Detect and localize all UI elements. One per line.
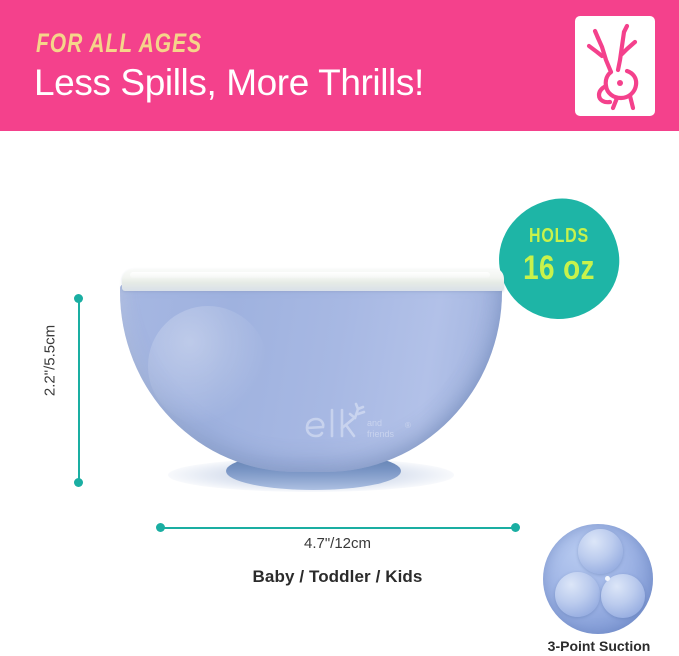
height-dimension-dot-top	[74, 294, 83, 303]
product-infographic: For All Ages Less Spills, More Thrills!	[0, 0, 679, 656]
eyebrow-text: For All Ages	[36, 28, 202, 59]
suction-caption: 3-Point Suction	[527, 638, 671, 654]
audience-caption: Baby / Toddler / Kids	[140, 567, 535, 587]
suction-detail-inset: 3-Point Suction	[533, 524, 665, 656]
width-dimension-dot-left	[156, 523, 165, 532]
header-banner: For All Ages Less Spills, More Thrills!	[0, 0, 679, 131]
width-dimension-dot-right	[511, 523, 520, 532]
suction-dome-top	[578, 529, 623, 574]
capacity-badge: Holds 16 oz	[499, 199, 619, 319]
suction-dome-left	[555, 572, 600, 617]
capacity-badge-value: 16 oz	[510, 249, 608, 288]
svg-text:®: ®	[405, 421, 411, 430]
suction-base-circle	[543, 524, 653, 634]
brand-logo	[575, 16, 655, 116]
height-dimension-line	[78, 300, 80, 482]
svg-text:friends: friends	[367, 429, 395, 439]
registered-trademark-mark: ®	[645, 104, 653, 115]
bowl-product-image: and friends ®	[108, 262, 514, 510]
bowl-embossed-brand-logo: and friends ®	[301, 402, 421, 446]
bowl-lid-sheen	[130, 272, 490, 278]
height-dimension-dot-bottom	[74, 478, 83, 487]
capacity-badge-label: Holds	[511, 225, 607, 248]
elk-head-icon	[575, 16, 655, 116]
suction-center-dot	[605, 576, 610, 581]
height-dimension-label: 2.2"/5.5cm	[42, 306, 59, 416]
headline-text: Less Spills, More Thrills!	[34, 62, 424, 104]
svg-text:and: and	[367, 418, 382, 428]
embossed-elk-wordmark-icon: and friends ®	[301, 402, 421, 446]
width-dimension-label: 4.7"/12cm	[160, 535, 515, 552]
width-dimension-line	[160, 527, 515, 529]
